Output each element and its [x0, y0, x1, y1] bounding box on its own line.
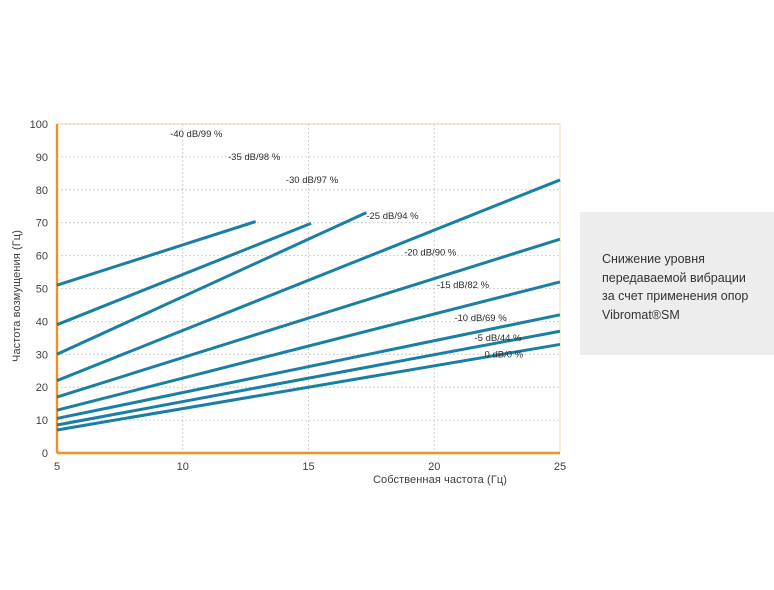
y-tick-label: 40 [36, 316, 48, 328]
x-tick-label: 20 [428, 461, 440, 473]
y-tick-label: 90 [36, 152, 48, 164]
chart-svg: 0102030405060708090100 510152025 -40 dB/… [0, 0, 580, 510]
x-tick-label: 5 [54, 461, 60, 473]
vibration-reduction-figure: 0102030405060708090100 510152025 -40 dB/… [0, 0, 774, 590]
series-label: -40 dB/99 % [170, 129, 223, 140]
x-tick-label: 10 [177, 461, 189, 473]
x-tick-labels: 510152025 [54, 461, 566, 473]
y-tick-label: 80 [36, 185, 48, 197]
series-label: -15 dB/82 % [437, 280, 490, 291]
chart-plot-area: 0102030405060708090100 510152025 -40 dB/… [0, 0, 580, 510]
x-axis-title: Собственная частота (Гц) [300, 474, 580, 486]
series-label: -30 dB/97 % [286, 175, 339, 186]
side-note-panel: Снижение уровня передаваемой вибрации за… [580, 212, 774, 355]
series-line [57, 315, 560, 419]
y-tick-label: 30 [36, 349, 48, 361]
series-label: -25 dB/94 % [366, 211, 419, 222]
y-axis-title: Частота возмущения (Гц) [11, 201, 23, 391]
side-note-text: Снижение уровня передаваемой вибрации за… [602, 250, 762, 324]
y-tick-label: 10 [36, 415, 48, 427]
y-tick-label: 20 [36, 382, 48, 394]
series-label: 0 dB/0 % [485, 349, 524, 360]
series-label: -35 dB/98 % [228, 152, 281, 163]
y-tick-label: 60 [36, 251, 48, 263]
y-tick-label: 70 [36, 218, 48, 230]
x-tick-label: 25 [554, 461, 566, 473]
x-tick-label: 15 [302, 461, 314, 473]
series-label: -20 dB/90 % [404, 247, 457, 258]
series-line [57, 213, 366, 355]
y-tick-label: 0 [42, 448, 48, 460]
y-tick-label: 50 [36, 284, 48, 296]
series-label: -5 dB/44 % [474, 333, 522, 344]
y-tick-labels: 0102030405060708090100 [30, 119, 48, 460]
series-inline-labels: -40 dB/99 %-35 dB/98 %-30 dB/97 %-25 dB/… [170, 129, 523, 360]
y-tick-label: 100 [30, 119, 48, 131]
series-label: -10 dB/69 % [454, 313, 507, 324]
